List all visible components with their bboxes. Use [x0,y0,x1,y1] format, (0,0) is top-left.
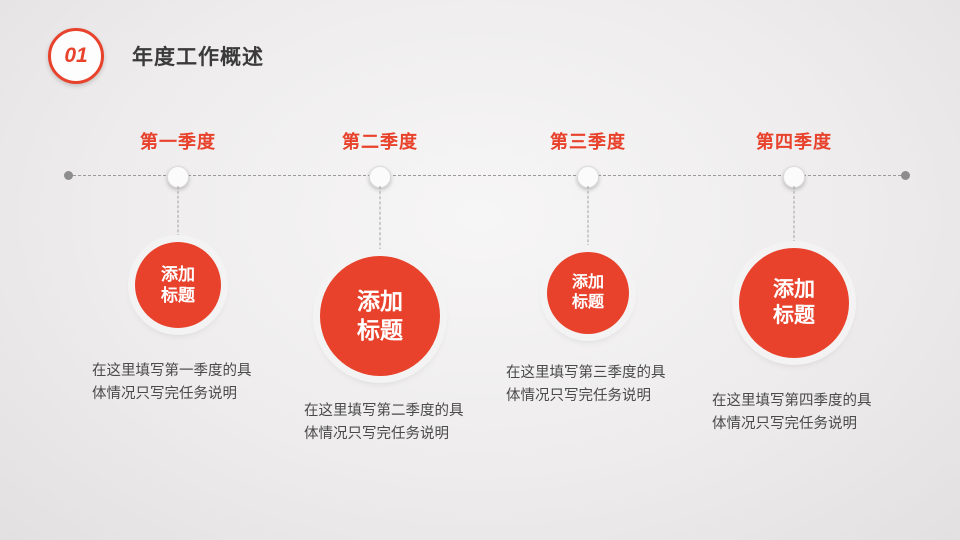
bubble-title-line2-q1: 标题 [161,285,195,306]
bubble-title-line1-q1: 添加 [161,264,195,285]
timeline-connector-q2 [380,186,381,266]
page-title: 年度工作概述 [132,41,264,71]
quarter-label-q2: 第二季度 [342,128,418,154]
timeline-description-q1: 在这里填写第一季度的具体情况只写完任务说明 [92,360,264,406]
quarter-label-q4: 第四季度 [756,128,832,154]
timeline-connector-q1 [178,186,179,242]
timeline-bubble-q1[interactable]: 添加 标题 [135,242,221,328]
section-number-badge: 01 [48,28,104,84]
quarter-label-q3: 第三季度 [550,128,626,154]
timeline-dashed-line [68,175,906,176]
timeline-description-q3: 在这里填写第三季度的具体情况只写完任务说明 [506,362,678,408]
timeline-node-q2[interactable] [369,166,391,188]
bubble-title-line1-q2: 添加 [357,287,403,316]
bubble-title-line1-q4: 添加 [773,277,815,303]
timeline-bubble-q4[interactable]: 添加 标题 [739,248,849,358]
bubble-title-line2-q4: 标题 [773,303,815,329]
timeline-connector-q3 [588,186,589,252]
slide-header: 01 年度工作概述 [48,28,264,84]
timeline-node-q4[interactable] [783,166,805,188]
timeline-description-q2: 在这里填写第二季度的具体情况只写完任务说明 [304,400,476,446]
timeline-end-dot [901,171,910,180]
timeline-bubble-q2[interactable]: 添加 标题 [320,256,440,376]
slide: 01 年度工作概述 第一季度 添加 标题 在这里填写第一季度的具体情况只写完任务… [0,0,960,540]
timeline-bubble-q3[interactable]: 添加 标题 [547,252,629,334]
bubble-title-line2-q2: 标题 [357,316,403,345]
bubble-title-line1-q3: 添加 [572,273,604,293]
timeline-node-q1[interactable] [167,166,189,188]
bubble-title-line2-q3: 标题 [572,293,604,313]
timeline-connector-q4 [794,186,795,248]
timeline-description-q4: 在这里填写第四季度的具体情况只写完任务说明 [712,390,884,436]
timeline-start-dot [64,171,73,180]
timeline-axis [68,175,906,177]
quarter-label-q1: 第一季度 [140,128,216,154]
timeline-node-q3[interactable] [577,166,599,188]
